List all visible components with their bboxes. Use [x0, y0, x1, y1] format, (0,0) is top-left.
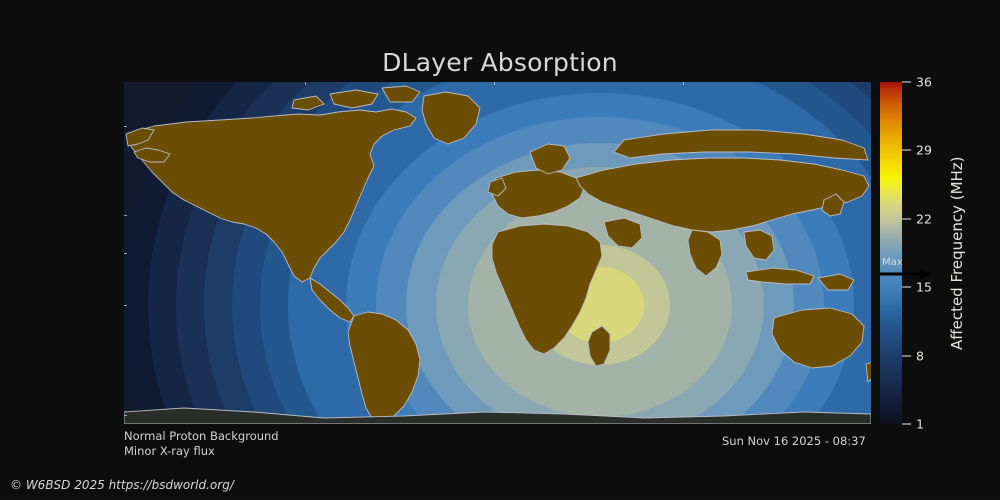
xray-status: Minor X-ray flux — [124, 444, 279, 459]
tick-label: 22 — [916, 211, 932, 226]
colorbar-tick: 29 — [902, 143, 932, 158]
tick-line — [902, 424, 911, 425]
landmasses — [124, 86, 871, 424]
page-title: DLayer Absorption — [0, 48, 1000, 77]
tick-line — [902, 82, 911, 83]
colorbar[interactable] — [880, 82, 902, 424]
max-marker: Max — [880, 258, 950, 280]
gridline-parallel — [124, 215, 871, 216]
copyright-footer: © W6BSD 2025 https://bsdworld.org/ — [10, 478, 234, 492]
colorbar-tick: 1 — [902, 417, 924, 432]
tick-line — [902, 150, 911, 151]
tick-line — [902, 287, 911, 288]
dlayer-absorption-map-page: DLayer Absorption — [0, 0, 1000, 500]
gridline-parallel — [124, 415, 871, 416]
status-annotations: Normal Proton Background Minor X-ray flu… — [124, 429, 279, 459]
timestamp: Sun Nov 16 2025 - 08:37 — [722, 434, 866, 448]
max-marker-label: Max — [880, 258, 950, 268]
max-arrow-icon — [880, 268, 932, 280]
gridline-parallel — [124, 305, 871, 306]
world-map[interactable] — [124, 82, 871, 424]
tick-label: 36 — [916, 75, 932, 90]
colorbar-tick: 8 — [902, 348, 924, 363]
proton-status: Normal Proton Background — [124, 429, 279, 444]
colorbar-tick: 22 — [902, 211, 932, 226]
gridline-parallel — [124, 253, 871, 254]
colorbar-axis-title: Affected Frequency (MHz) — [944, 82, 970, 424]
tick-label: 1 — [916, 417, 924, 432]
tick-line — [902, 355, 911, 356]
tick-label: 29 — [916, 143, 932, 158]
colorbar-tick: 36 — [902, 75, 932, 90]
colorbar-gradient — [880, 82, 902, 424]
tick-label: 8 — [916, 348, 924, 363]
tick-line — [902, 218, 911, 219]
gridline-parallel — [124, 126, 871, 127]
tick-label: 15 — [916, 280, 932, 295]
colorbar-tick: 15 — [902, 280, 932, 295]
